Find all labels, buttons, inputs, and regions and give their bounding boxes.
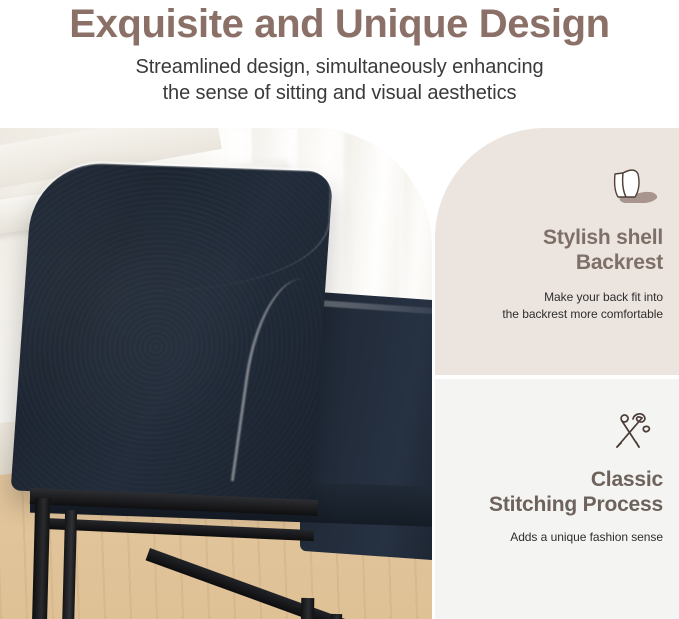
page-title: Exquisite and Unique Design [0,0,679,47]
page-subtitle-line-2: the sense of sitting and visual aestheti… [0,80,679,106]
product-photo-scene [0,128,432,619]
header: Exquisite and Unique Design Streamlined … [0,0,679,128]
feature-desc-line-2: the backrest more comfortable [443,306,663,323]
feature-card-backrest-description: Make your back fit into the backrest mor… [443,275,663,323]
feature-desc-line-1: Adds a unique fashion sense [443,529,663,546]
feature-card-backrest-body: Stylish shell Backrest Make your back fi… [443,225,663,323]
chair-frame-leg [329,614,342,619]
feature-title-line-1: Classic [443,467,663,492]
feature-desc-line-1: Make your back fit into [443,289,663,306]
feature-card-stitching-title: Classic Stitching Process [443,467,663,517]
feature-card-stitching-body: Classic Stitching Process Adds a unique … [443,467,663,546]
feature-title-line-1: Stylish shell [443,225,663,250]
feature-card-stitching: Classic Stitching Process Adds a unique … [435,379,679,619]
page-subtitle: Streamlined design, simultaneously enhan… [0,47,679,106]
product-feature-page: Exquisite and Unique Design Streamlined … [0,0,679,619]
feature-panel: Stylish shell Backrest Make your back fi… [435,128,679,619]
feature-title-line-2: Stitching Process [443,492,663,517]
product-photo [0,128,432,619]
feature-card-stitching-description: Adds a unique fashion sense [443,517,663,546]
crossed-sewing-needles-icon [611,407,657,453]
shell-backrest-chair-icon [603,164,661,212]
feature-card-backrest-title: Stylish shell Backrest [443,225,663,275]
page-subtitle-line-1: Streamlined design, simultaneously enhan… [0,54,679,80]
feature-title-line-2: Backrest [443,250,663,275]
chair-frame-leg [299,598,315,619]
feature-card-backrest: Stylish shell Backrest Make your back fi… [435,128,679,375]
